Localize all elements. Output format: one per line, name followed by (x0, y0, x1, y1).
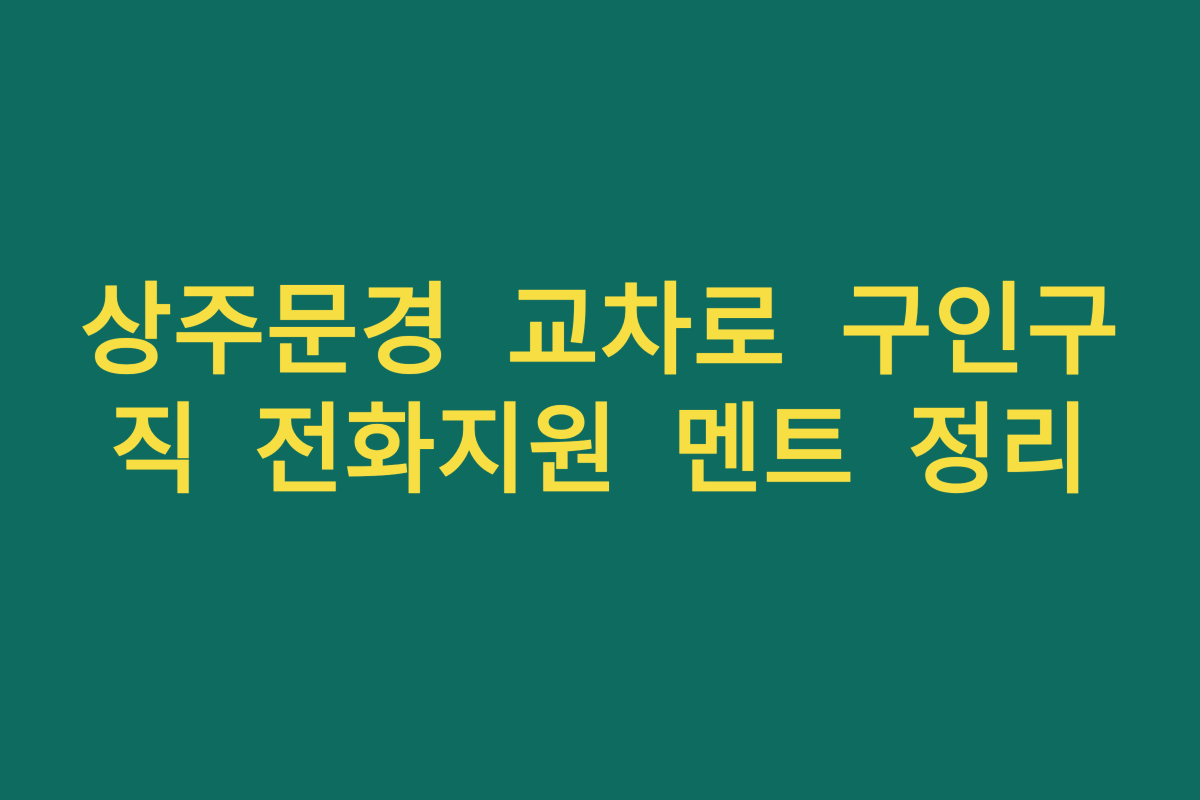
thumbnail-banner: 상주문경 교차로 구인구 직 전화지원 멘트 정리 (0, 0, 1200, 800)
title-line-1: 상주문경 교차로 구인구 (50, 270, 1150, 392)
title-line-2: 직 전화지원 멘트 정리 (50, 392, 1150, 512)
title-block: 상주문경 교차로 구인구 직 전화지원 멘트 정리 (50, 270, 1150, 512)
